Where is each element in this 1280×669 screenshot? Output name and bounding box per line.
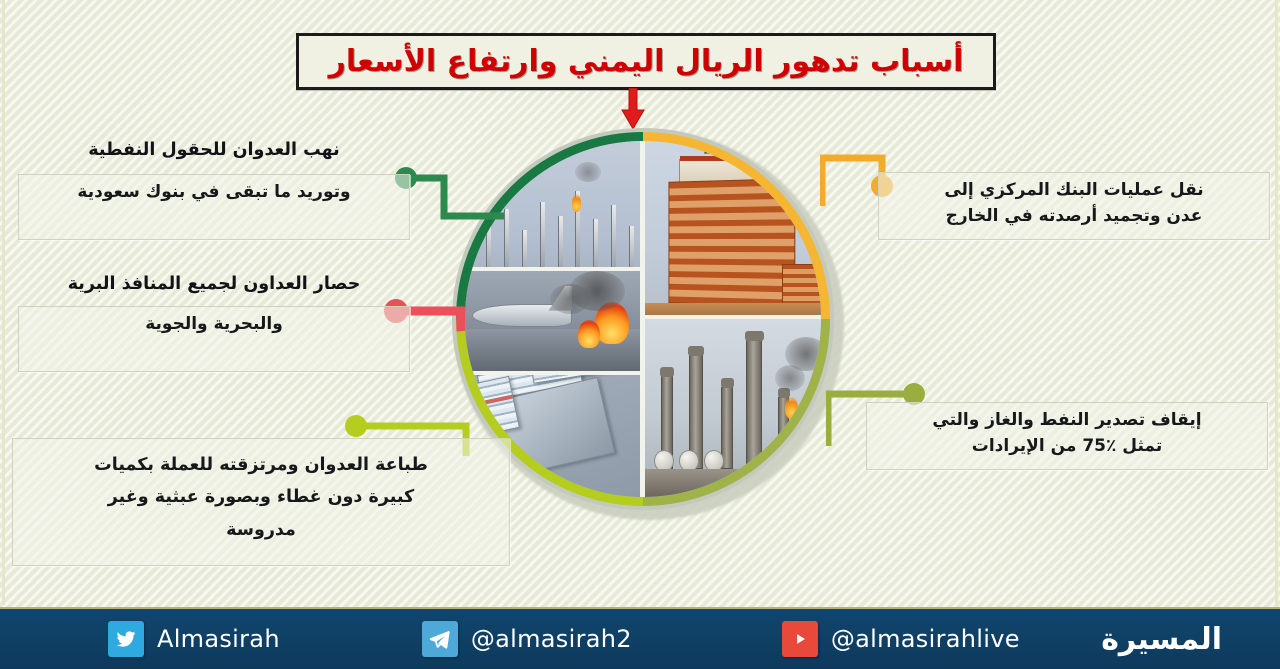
twitter-icon	[108, 621, 144, 657]
twitter-handle: Almasirah	[157, 625, 280, 653]
left-edge-accent	[2, 0, 5, 605]
title-banner: أسباب تدهور الريال اليمني وارتفاع الأسعا…	[296, 33, 996, 90]
callout-right-top-line2: عدن وتجميد أرصدته في الخارج	[891, 203, 1257, 229]
social-telegram[interactable]: @almasirah2	[422, 621, 632, 657]
photo-mosaic	[465, 141, 821, 497]
almasirah-logo-text: المسيرة	[1101, 622, 1222, 657]
callout-left-bottom-line2: كبيرة دون غطاء وبصورة عبثية وغير	[25, 481, 497, 513]
callout-right-bottom-line1: إيقاف تصدير النفط والغاز والتي	[879, 407, 1255, 433]
callout-card-left-middle: والبحرية والجوية	[18, 306, 410, 372]
callout-left-top-line1: نهب العدوان للحقول النفطية	[18, 140, 410, 160]
almasirah-logo: المسيرة	[1101, 621, 1222, 657]
callout-card-left-top: وتوريد ما تبقى في بنوك سعودية	[18, 174, 410, 240]
refinery-flare-photo	[643, 319, 821, 497]
callout-left-middle-line1: حصار العداون لجميع المنافذ البرية	[18, 274, 410, 294]
quadrant-burning-plane	[465, 269, 643, 373]
callout-left-top-line2: وتوريد ما تبقى في بنوك سعودية	[29, 179, 399, 205]
infographic-canvas: أسباب تدهور الريال اليمني وارتفاع الأسعا…	[0, 0, 1280, 669]
social-youtube[interactable]: @almasirahlive	[782, 621, 1020, 657]
title-box: أسباب تدهور الريال اليمني وارتفاع الأسعا…	[296, 33, 996, 90]
youtube-icon	[782, 621, 818, 657]
callout-left-bottom-line3: مدروسة	[25, 514, 497, 546]
telegram-handle: @almasirah2	[471, 625, 632, 653]
callout-card-right-bottom: إيقاف تصدير النفط والغاز والتي تمثل ٪75 …	[866, 402, 1268, 470]
quadrant-central-bank	[643, 141, 821, 319]
callout-right-top-line1: نقل عمليات البنك المركزي إلى	[891, 177, 1257, 203]
social-footer-bar: Almasirah @almasirah2 @almasirahlive الم…	[0, 607, 1280, 669]
divider-h-right	[643, 315, 821, 319]
page-title: أسباب تدهور الريال اليمني وارتفاع الأسعا…	[329, 44, 964, 79]
callout-card-right-top: نقل عمليات البنك المركزي إلى عدن وتجميد …	[878, 172, 1270, 240]
callout-card-left-bottom: طباعة العدوان ومرتزقته للعملة بكميات كبي…	[12, 438, 510, 566]
central-bank-building-photo	[643, 141, 821, 319]
callout-left-bottom-line1: طباعة العدوان ومرتزقته للعملة بكميات	[25, 449, 497, 481]
quadrant-refinery	[643, 319, 821, 497]
divider-h-left-upper	[465, 267, 643, 271]
burning-airplane-photo	[465, 269, 643, 373]
callout-right-bottom-line2: تمثل ٪75 من الإيرادات	[879, 433, 1255, 459]
divider-vertical	[640, 141, 645, 497]
callout-left-middle-line2: والبحرية والجوية	[29, 311, 399, 337]
divider-h-left-lower	[465, 371, 643, 375]
youtube-handle: @almasirahlive	[831, 625, 1020, 653]
social-twitter[interactable]: Almasirah	[108, 621, 280, 657]
telegram-icon	[422, 621, 458, 657]
right-edge-accent	[1275, 0, 1278, 605]
